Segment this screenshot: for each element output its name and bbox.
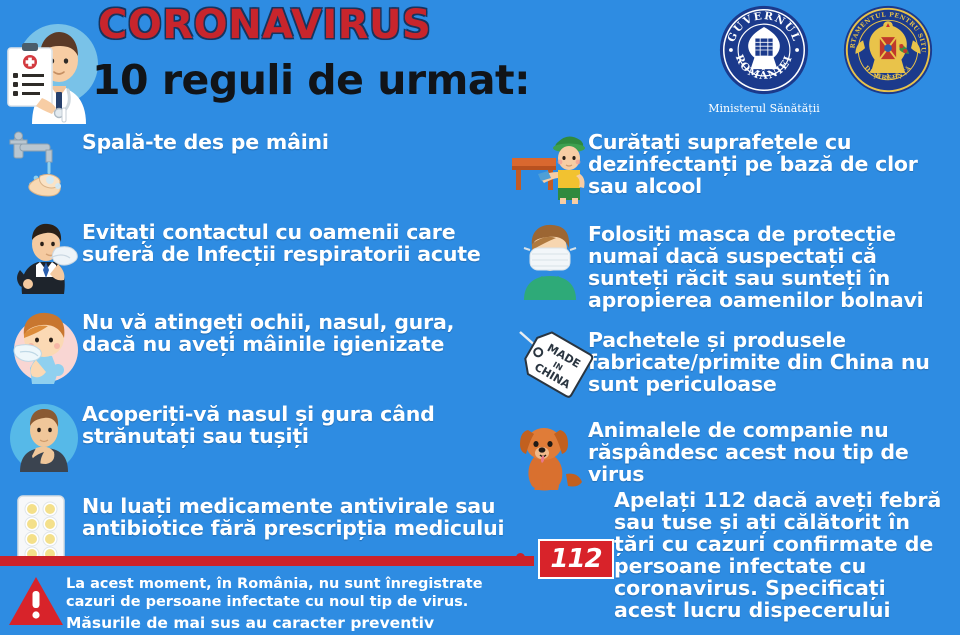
rule-item: MADE IN CHINA Pachetele și produsele fab… <box>512 326 960 402</box>
footer-warning: La acest moment, în România, nu sunt înr… <box>6 573 536 634</box>
rule-text: Curățați suprafețele cu dezinfectanți pe… <box>588 128 960 198</box>
rule-text: Acoperiți-vă nasul și gura când strănuta… <box>82 400 506 448</box>
emergency-112-text: Apelați 112 dacă aveți febră sau tuse și… <box>614 490 954 622</box>
poster-header: CORONAVIRUS 10 reguli de urmat: GUVERNUL <box>0 0 960 126</box>
made-in-china-tag-icon: MADE IN CHINA <box>512 326 588 402</box>
rule-item: Spală-te des pe mâini <box>6 128 506 204</box>
rule-item: Acoperiți-vă nasul și gura când strănuta… <box>6 400 506 476</box>
boy-cleaning-table-icon <box>512 128 588 204</box>
rule-text: Nu luați medicamente antivirale sau anti… <box>82 492 506 540</box>
page-title: CORONAVIRUS <box>98 2 431 48</box>
doctor-with-clipboard-icon <box>2 12 106 124</box>
departamentul-situatii-urgenta-seal: DEPARTAMENTUL PENTRU SITUAȚII DE URGENȚĂ <box>832 4 944 100</box>
faucet-handwash-icon <box>6 128 82 204</box>
footer-line-2: Măsurile de mai sus au caracter preventi… <box>66 614 536 633</box>
rule-text: Animalele de companie nu răspândesc aces… <box>588 416 960 486</box>
rule-text: Folosiți masca de protecție numai dacă s… <box>588 220 960 312</box>
rules-column-right: Curățați suprafețele cu dezinfectanți pe… <box>512 128 960 494</box>
person-wearing-mask-icon <box>512 220 588 296</box>
rule-item: Evitați contactul cu oamenii care suferă… <box>6 218 506 294</box>
rule-text: Nu vă atingeți ochii, nasul, gura, dacă … <box>82 308 506 356</box>
man-covering-mouth-icon <box>6 400 82 476</box>
boy-sneezing-icon <box>6 308 82 384</box>
rules-column-left: Spală-te des pe mâini <box>6 128 506 570</box>
man-coughing-icon <box>6 218 82 294</box>
puppy-dog-icon <box>512 416 588 492</box>
logo-group: GUVERNUL ROMÂNIEI <box>708 4 944 115</box>
footer-text: La acest moment, în România, nu sunt înr… <box>66 573 536 634</box>
page-subtitle: 10 reguli de urmat: <box>92 56 530 104</box>
coronavirus-infographic-poster: CORONAVIRUS 10 reguli de urmat: GUVERNUL <box>0 0 960 635</box>
red-divider <box>0 556 534 566</box>
rule-item: Curățați suprafețele cu dezinfectanți pe… <box>512 128 960 204</box>
rule-item: Animalele de companie nu răspândesc aces… <box>512 416 960 492</box>
rule-text: Spală-te des pe mâini <box>82 128 506 154</box>
rule-text: Evitați contactul cu oamenii care suferă… <box>82 218 506 266</box>
warning-triangle-icon <box>6 573 66 629</box>
logo-caption-ministry: Ministerul Sănătății <box>708 102 820 115</box>
rule-item: Nu vă atingeți ochii, nasul, gura, dacă … <box>6 308 506 384</box>
emergency-112-badge: 112 <box>538 539 614 579</box>
guvernul-romaniei-seal: GUVERNUL ROMÂNIEI <box>708 4 820 115</box>
footer-line-1: La acest moment, în România, nu sunt înr… <box>66 576 483 610</box>
seal2-center-text: M.A.I. <box>873 73 903 81</box>
rule-item: Folosiți masca de protecție numai dacă s… <box>512 220 960 312</box>
rule-text: Pachetele și produsele fabricate/primite… <box>588 326 960 396</box>
